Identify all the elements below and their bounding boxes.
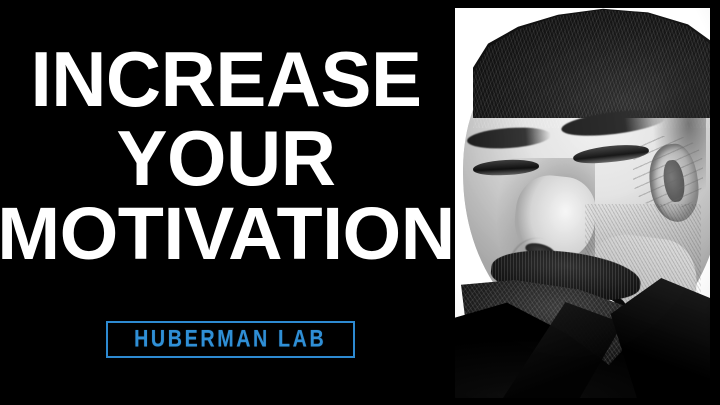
title-line-1: INCREASE [5, 40, 448, 118]
portrait-photo [455, 8, 710, 398]
huberman-lab-logo-text: HUBERMAN LAB [134, 327, 326, 351]
title-panel: INCREASE YOUR MOTIVATION HUBERMAN LAB [0, 0, 452, 405]
huberman-lab-logo-badge: HUBERMAN LAB [106, 321, 355, 358]
smile-wrinkles [633, 136, 703, 208]
portrait-panel [452, 0, 720, 405]
title-line-3: MOTIVATION [0, 197, 457, 271]
video-thumbnail: INCREASE YOUR MOTIVATION HUBERMAN LAB [0, 0, 720, 405]
title-line-2: YOUR [5, 119, 448, 197]
